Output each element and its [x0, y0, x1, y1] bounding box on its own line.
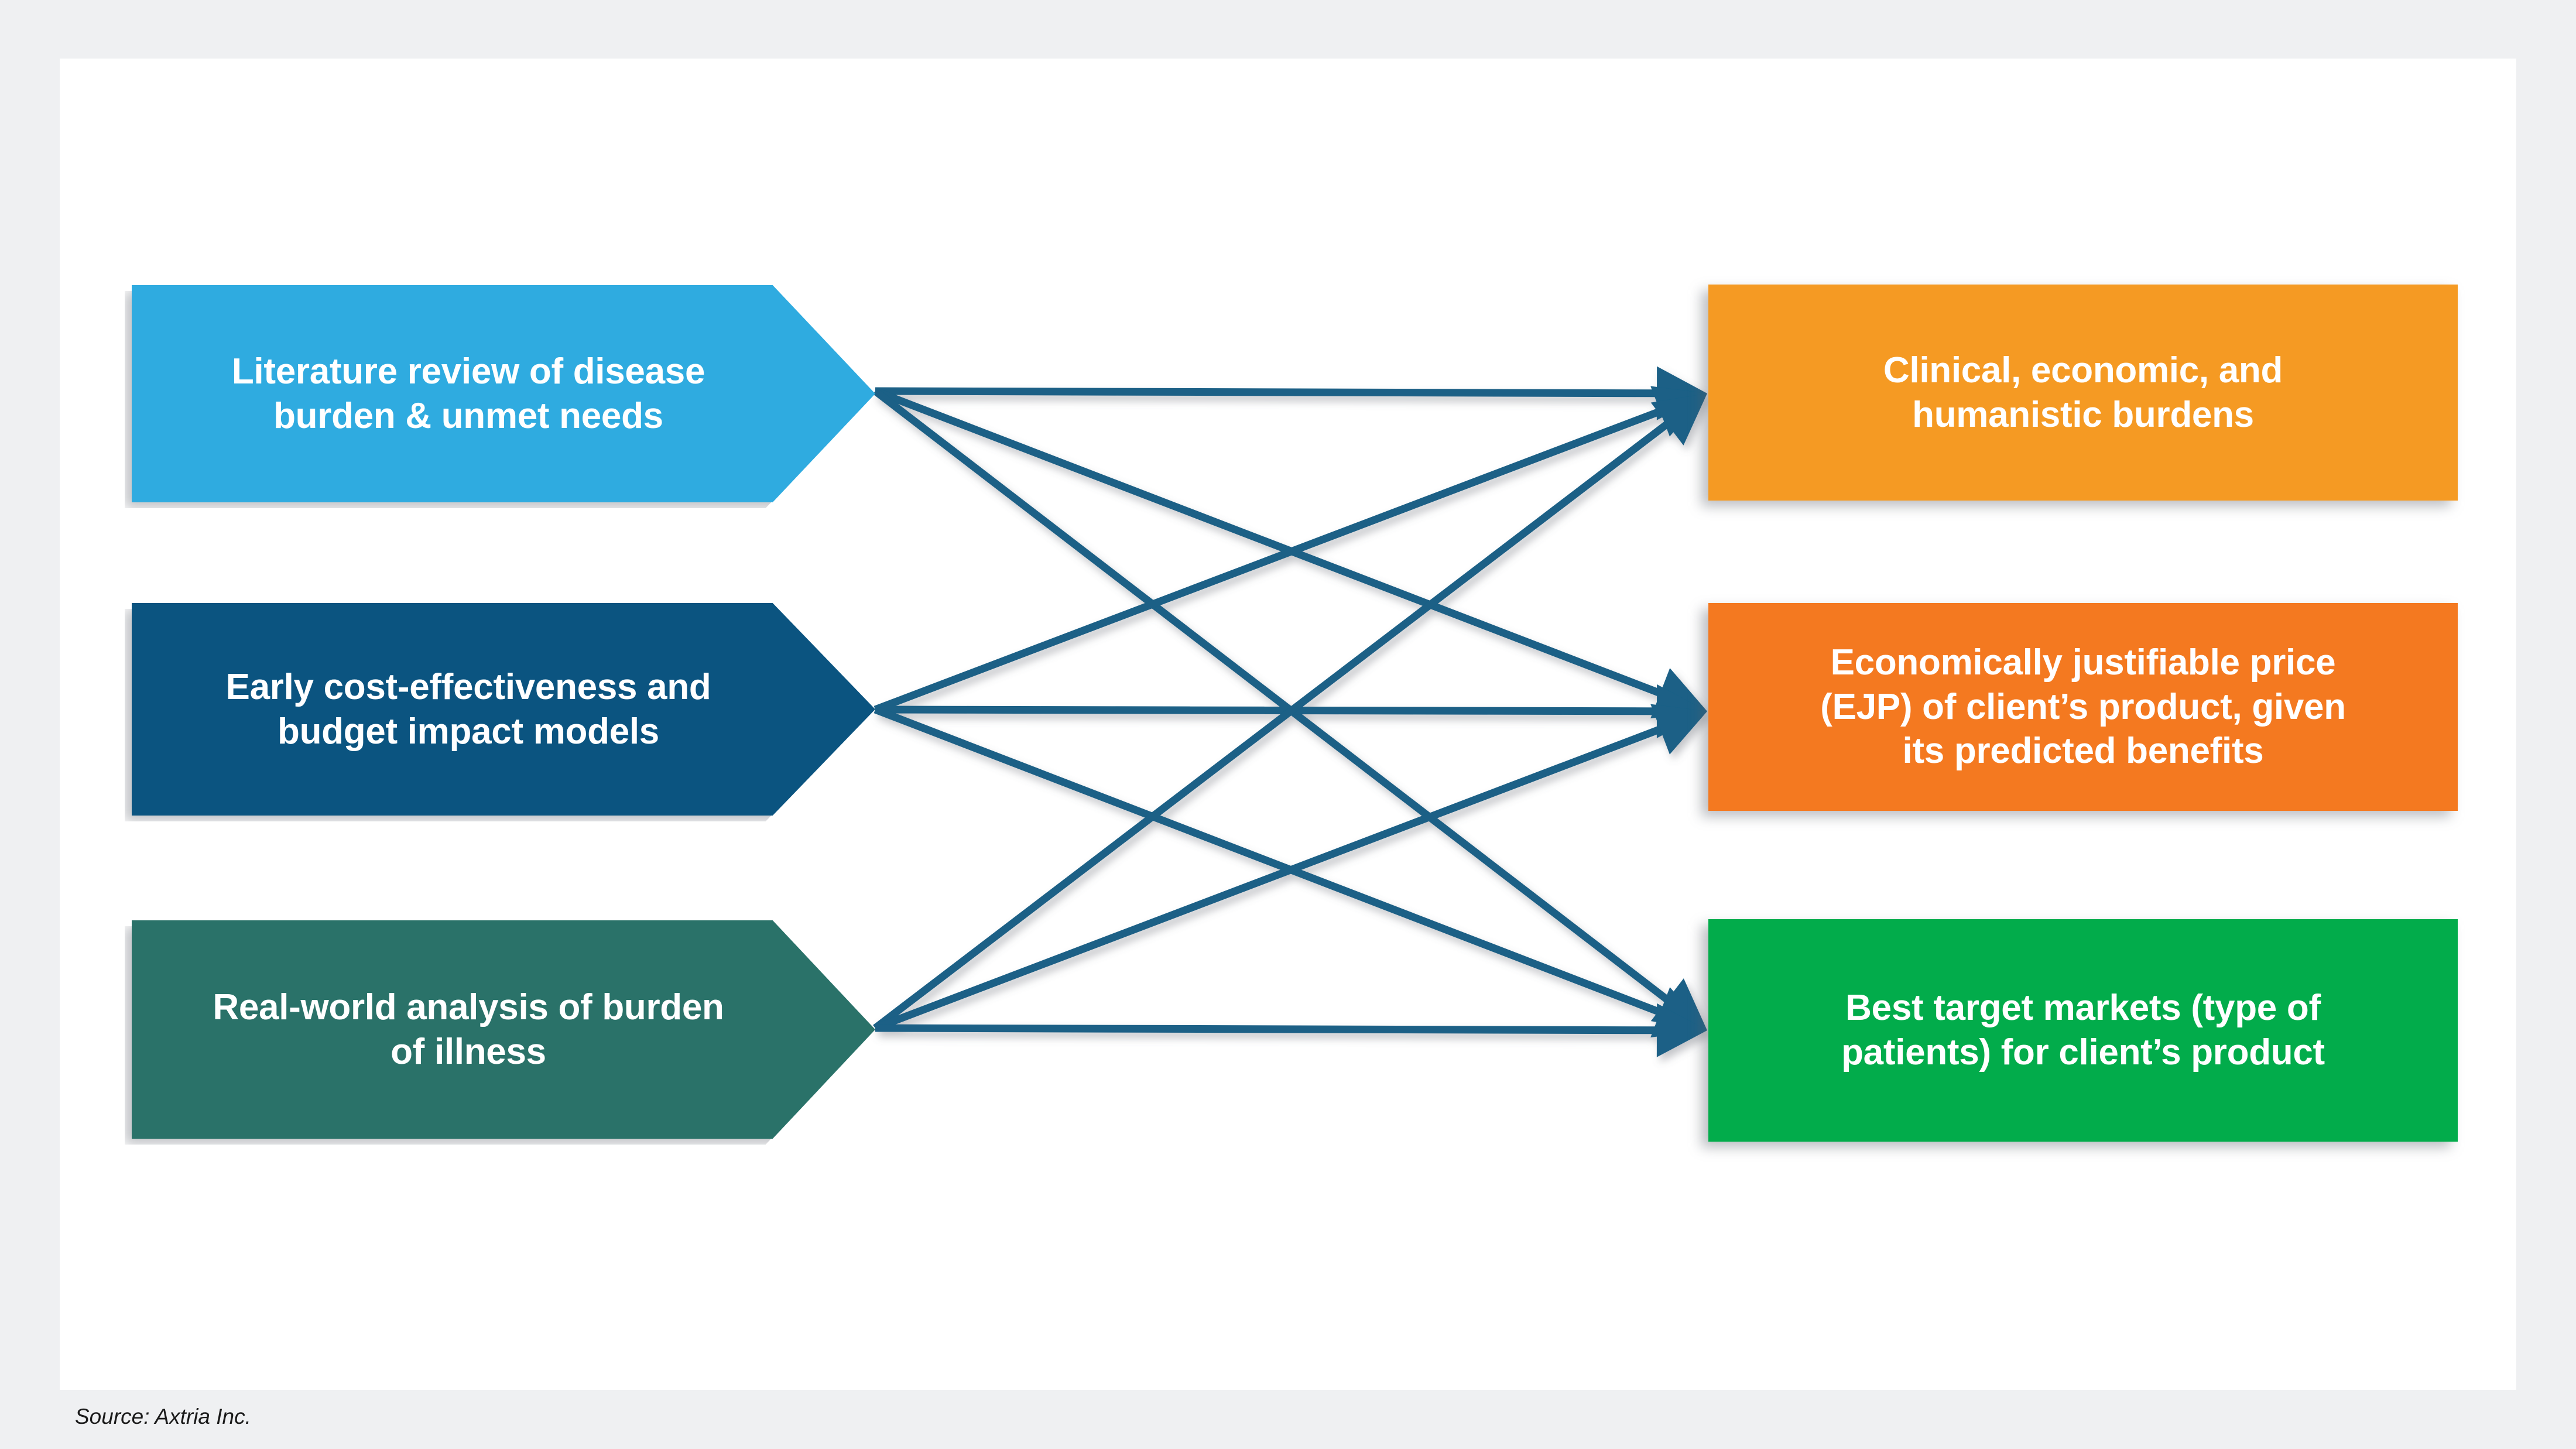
- node-label-real-world-analysis: Real-world analysis of burden of illness: [195, 985, 811, 1074]
- node-clinical-economic-humanistic-burdens[interactable]: Clinical, economic, and humanistic burde…: [1708, 285, 2458, 501]
- node-early-cost-effectiveness[interactable]: Early cost-effectiveness and budget impa…: [132, 603, 875, 816]
- node-literature-review[interactable]: Literature review of disease burden & un…: [132, 285, 875, 502]
- node-label-literature-review: Literature review of disease burden & un…: [214, 350, 793, 438]
- node-label-economically-justifiable-price: Economically justifiable price (EJP) of …: [1800, 640, 2366, 773]
- node-economically-justifiable-price[interactable]: Economically justifiable price (EJP) of …: [1708, 603, 2458, 811]
- node-best-target-markets[interactable]: Best target markets (type of patients) f…: [1708, 919, 2458, 1142]
- node-label-early-cost-effectiveness: Early cost-effectiveness and budget impa…: [208, 665, 799, 753]
- node-real-world-analysis[interactable]: Real-world analysis of burden of illness: [132, 920, 875, 1139]
- diagram-canvas: Literature review of disease burden & un…: [0, 0, 2576, 1449]
- node-label-best-target-markets: Best target markets (type of patients) f…: [1821, 986, 2345, 1074]
- node-label-clinical-economic-humanistic-burdens: Clinical, economic, and humanistic burde…: [1864, 348, 2303, 437]
- source-caption: Source: Axtria Inc.: [75, 1405, 251, 1429]
